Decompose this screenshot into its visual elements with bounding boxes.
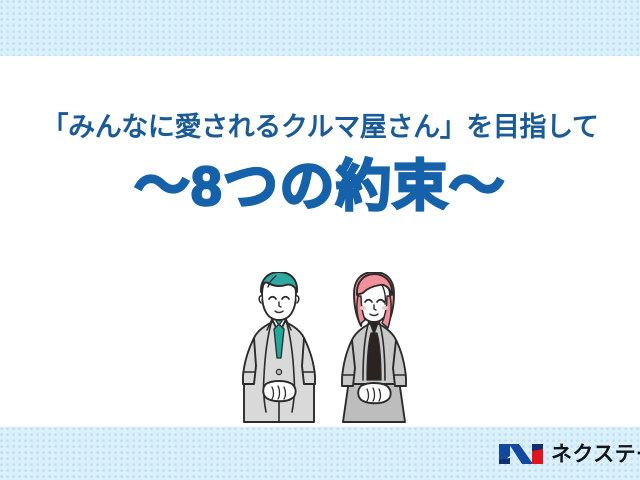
promotional-banner: 「みんなに愛されるクルマ屋さん」を目指して 〜8つの約束〜 [0, 0, 640, 480]
headline-secondary: 〜8つの約束〜 [0, 156, 640, 217]
male-staff-figure [243, 272, 315, 422]
nextage-logo-lockup: ネクステージ [498, 437, 640, 471]
top-dotted-band [0, 0, 640, 56]
headline-block: 「みんなに愛されるクルマ屋さん」を目指して 〜8つの約束〜 [0, 112, 640, 216]
female-staff-figure [342, 272, 406, 422]
bowing-staff-illustration [228, 272, 424, 428]
staff-pair-graphic [228, 272, 424, 428]
nextage-n-mark-icon [498, 439, 544, 469]
nextage-wordmark: ネクステージ [551, 444, 640, 465]
headline-primary: 「みんなに愛されるクルマ屋さん」を目指して [0, 112, 640, 144]
